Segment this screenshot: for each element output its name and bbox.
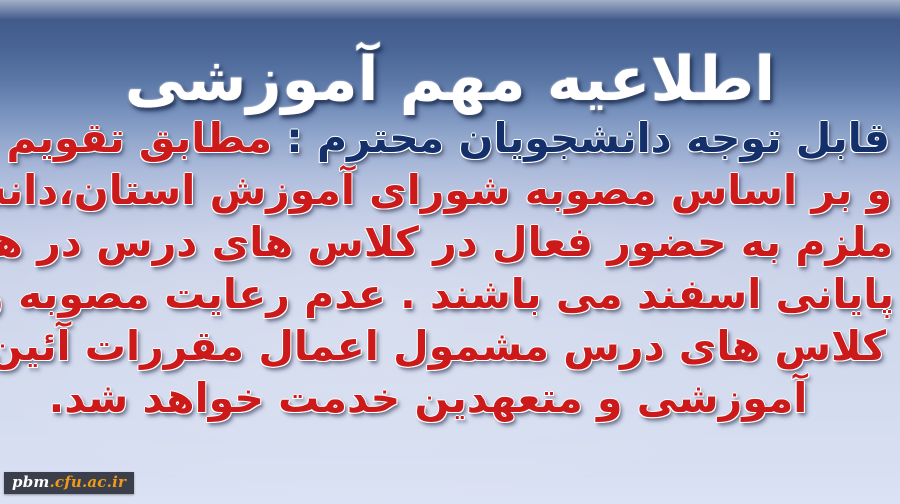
- announcement-line-red-part: مطابق تقویم آموزشی: [0, 114, 272, 162]
- watermark-prefix: pbm: [12, 473, 49, 491]
- announcement-line: کلاس های درس مشمول اعمال مقررات آئین نام…: [0, 320, 886, 372]
- announcement-line: ملزم به حضور فعال در کلاس های درس در هفت…: [1, 216, 893, 268]
- page-title: اطلاعیه مهم آموزشی: [0, 43, 900, 117]
- announcement-line-navy-part: قابل توجه دانشجویان محترم :: [286, 114, 890, 162]
- watermark-domain: .cfu.ac.ir: [49, 473, 126, 491]
- watermark: pbm.cfu.ac.ir: [4, 472, 134, 494]
- announcement-line: قابل توجه دانشجویان محترم : مطابق تقویم …: [0, 112, 890, 164]
- announcement-body: قابل توجه دانشجویان محترم : مطابق تقویم …: [4, 112, 896, 424]
- announcement-poster: اطلاعیه مهم آموزشی قابل توجه دانشجویان م…: [0, 0, 900, 504]
- announcement-line: و بر اساس مصوبه شورای آموزش استان،دانشجو…: [0, 164, 892, 216]
- announcement-line: آموزشی و متعهدین خدمت خواهد شد.: [0, 372, 874, 424]
- announcement-line: پایانی اسفند می باشند . عدم رعایت مصوبه …: [2, 268, 894, 320]
